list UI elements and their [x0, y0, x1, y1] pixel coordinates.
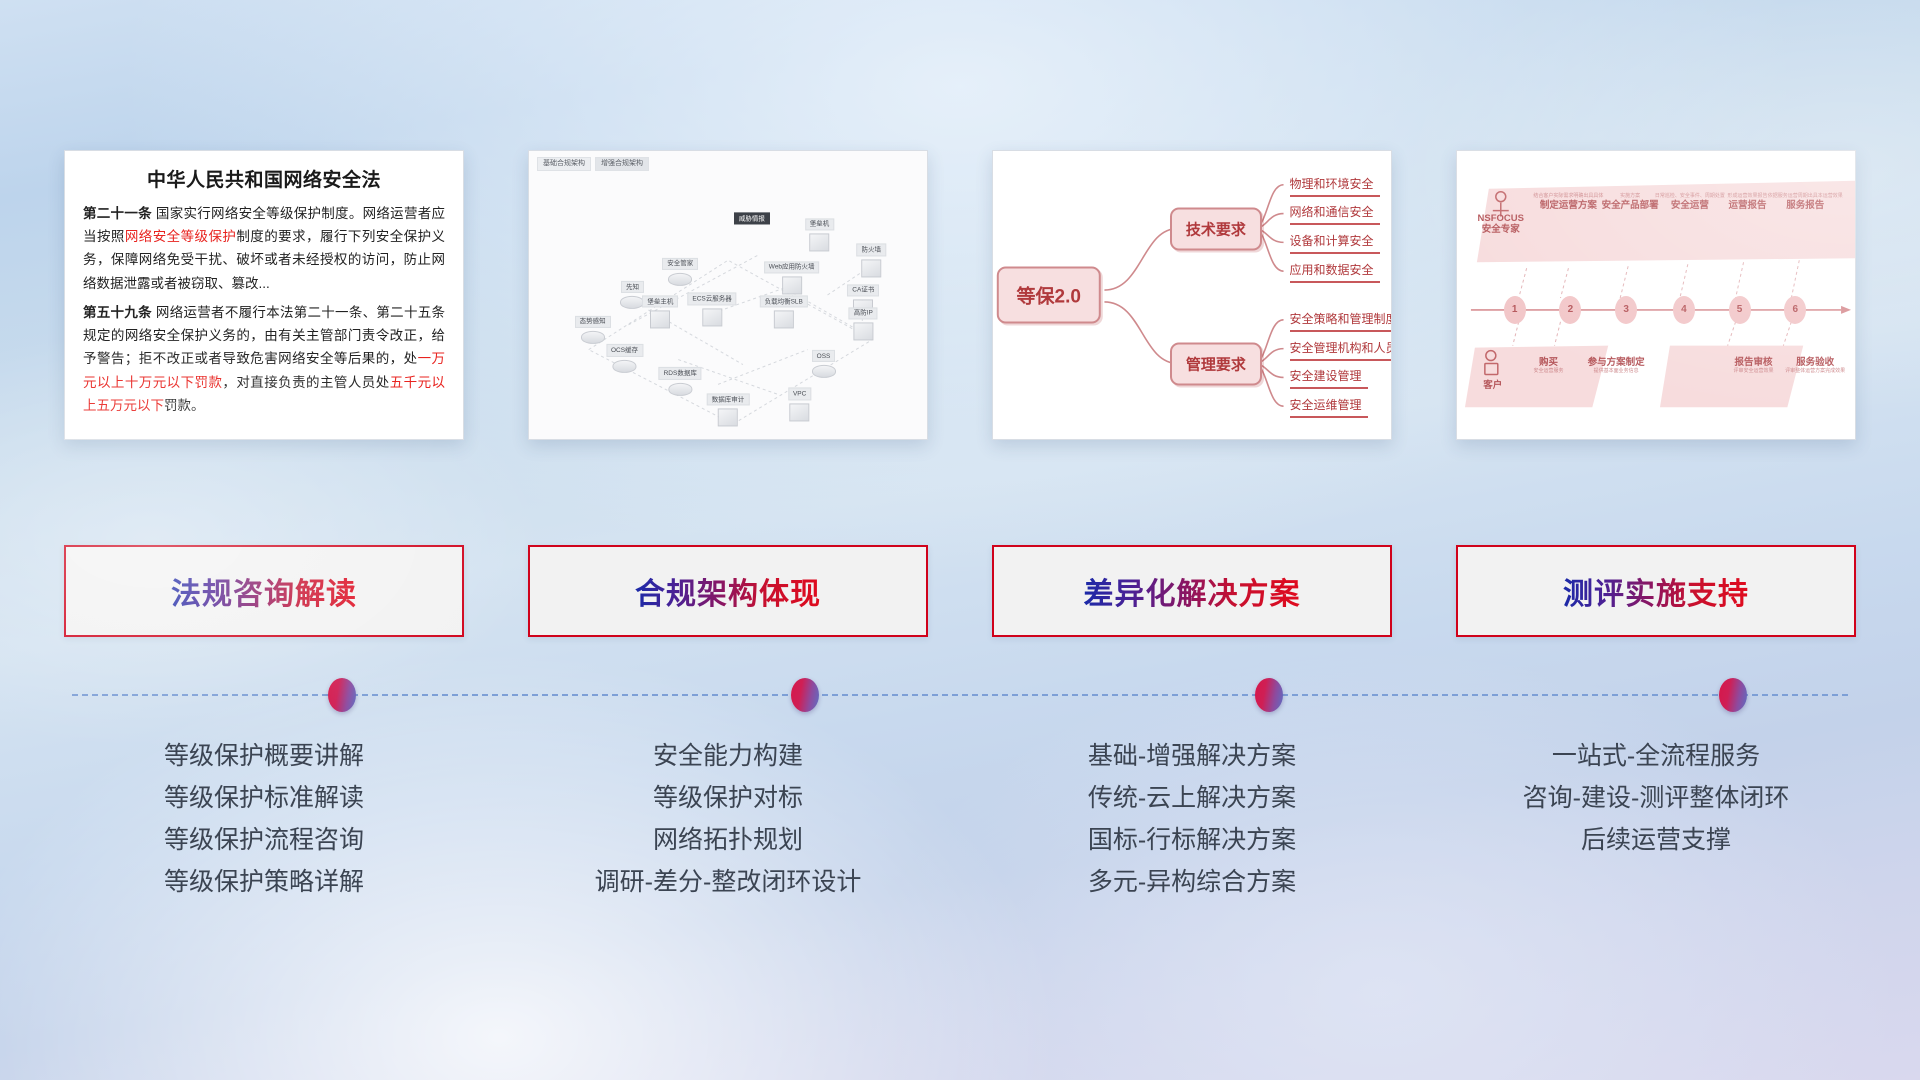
process-step-sub: 提供基本面业务信息: [1588, 369, 1645, 375]
heading-label-1: 法规咨询解读: [171, 569, 357, 613]
cylinder-icon: [620, 296, 644, 309]
actor-customer-name: 客户: [1483, 381, 1502, 392]
mindmap-diagram: 等保2.0 技术要求 管理要求 物理和环境安全网络和通信安全设备和计算安全应用和…: [993, 151, 1391, 439]
axis-dot-1[interactable]: [328, 678, 356, 712]
heading-box-regulation-consulting[interactable]: 法规咨询解读: [64, 545, 464, 637]
architecture-node-label: CA证书: [847, 284, 879, 296]
architecture-node-label: 数据库审计: [707, 394, 750, 406]
architecture-node-label: RDS数据库: [659, 367, 702, 379]
server-icon: [702, 308, 722, 326]
heading-box-assessment-support[interactable]: 测评实施支持: [1456, 545, 1856, 637]
law-title: 中华人民共和国网络安全法: [83, 165, 445, 192]
law-run-1-1: 网络安全等级保护: [125, 229, 237, 244]
server-icon: [853, 322, 873, 340]
process-step-sub: 结合客户实际需求明确出具具体: [1533, 194, 1603, 200]
cylinder-icon: [812, 365, 836, 378]
mindmap-leaf[interactable]: 安全管理机构和人员: [1290, 339, 1393, 359]
architecture-diagram: 基础合规架构 增强合规架构 先知态势感知安全管家威胁情报堡垒机防火墙Web应用防…: [529, 151, 927, 439]
detail-column-1: 等级保护概要讲解等级保护标准解读等级保护流程咨询等级保护策略详解: [64, 735, 464, 985]
architecture-node: VPC: [788, 388, 811, 421]
heading-box-compliance-architecture[interactable]: 合规架构体现: [528, 545, 928, 637]
architecture-node: OCS缓存: [606, 344, 643, 372]
detail-item: 基础-增强解决方案: [992, 735, 1392, 777]
architecture-node-label: VPC: [788, 388, 811, 400]
process-step-title: 服务报告: [1768, 201, 1843, 212]
heading-label-4: 测评实施支持: [1563, 569, 1749, 613]
mindmap-leaf[interactable]: 网络和通信安全: [1290, 203, 1374, 223]
process-step-sub: 形成运营效果报告: [1728, 194, 1768, 200]
architecture-node: 高防IP: [849, 307, 878, 340]
law-article-label-2: 第五十九条: [83, 305, 152, 320]
detail-item: 调研-差分-整改闭环设计: [528, 861, 928, 903]
process-step-bottom[interactable]: 服务验收评审整体运营方案完成效果: [1785, 358, 1845, 376]
process-step-top[interactable]: 形成运营效果报告运营报告: [1728, 194, 1768, 212]
architecture-node: 防火墙: [857, 244, 887, 277]
architecture-node-label: ECS云服务器: [687, 293, 736, 305]
architecture-node-label: 态势感知: [575, 315, 611, 327]
mindmap-root[interactable]: 等保2.0: [997, 267, 1101, 324]
process-step-sub: 实施方案: [1602, 194, 1659, 200]
axis-dot-4[interactable]: [1719, 678, 1747, 712]
mindmap-branch-management[interactable]: 管理要求: [1170, 343, 1262, 386]
actor-customer-label: 客户: [1483, 381, 1502, 392]
architecture-node: Web应用防火墙: [764, 261, 820, 294]
process-step-top[interactable]: 日常巡检、安全事件、周期处置安全运营: [1655, 194, 1725, 212]
tab-enhanced-architecture[interactable]: 增强合规架构: [595, 157, 649, 171]
law-paragraph-2: 第五十九条 网络运营者不履行本法第二十一条、第二十五条规定的网络安全保护义务的，…: [83, 301, 445, 417]
detail-item: 等级保护策略详解: [64, 861, 464, 903]
process-number-badge[interactable]: 3: [1615, 296, 1637, 324]
detail-item: 国标-行标解决方案: [992, 819, 1392, 861]
axis-dot-2[interactable]: [791, 678, 819, 712]
heading-row: 法规咨询解读 合规架构体现 差异化解决方案 测评实施支持: [0, 545, 1920, 655]
process-step-sub: 评审安全运营效果: [1733, 369, 1773, 375]
server-icon: [650, 311, 670, 329]
server-icon: [810, 233, 830, 251]
mindmap-branch-technical[interactable]: 技术要求: [1170, 207, 1262, 250]
server-icon: [774, 311, 794, 329]
architecture-node: RDS数据库: [659, 367, 702, 395]
server-icon: [790, 403, 810, 421]
process-number-badge[interactable]: 6: [1784, 296, 1806, 324]
detail-column-3: 基础-增强解决方案传统-云上解决方案国标-行标解决方案多元-异构综合方案: [992, 735, 1392, 985]
detail-item: 后续运营支撑: [1456, 819, 1856, 861]
process-diagram: NSFOCUS 安全专家 客户 结合客户实际需求明确出具具体制定运营方案实施方案…: [1457, 151, 1855, 439]
architecture-node: 数据库审计: [707, 394, 750, 427]
cylinder-icon: [668, 273, 692, 286]
mindmap-leaf[interactable]: 安全策略和管理制度: [1290, 310, 1393, 330]
process-step-bottom[interactable]: 参与方案制定提供基本面业务信息: [1588, 358, 1645, 376]
detail-item: 传统-云上解决方案: [992, 777, 1392, 819]
process-number-badge[interactable]: 5: [1729, 296, 1751, 324]
mindmap-leaf[interactable]: 安全运维管理: [1290, 396, 1362, 416]
architecture-tabs[interactable]: 基础合规架构 增强合规架构: [537, 157, 649, 171]
architecture-node-label: 威胁情报: [734, 213, 770, 225]
mindmap-leaf[interactable]: 设备和计算安全: [1290, 232, 1374, 252]
architecture-node: OSS: [812, 350, 836, 378]
process-step-title: 安全产品部署: [1602, 201, 1659, 212]
process-number-badge[interactable]: 4: [1673, 296, 1695, 324]
detail-item: 等级保护概要讲解: [64, 735, 464, 777]
detail-item: 网络拓扑规划: [528, 819, 928, 861]
architecture-node-label: 负载均衡SLB: [760, 296, 808, 308]
process-step-top[interactable]: 实施方案安全产品部署: [1602, 194, 1659, 212]
architecture-node: 堡垒主机: [642, 296, 678, 329]
customer-band-right: [1660, 346, 1803, 408]
architecture-node-label: 防火墙: [857, 244, 887, 256]
architecture-node: 先知: [620, 281, 644, 309]
process-step-title: 制定运营方案: [1533, 201, 1603, 212]
process-step-top[interactable]: 结合客户实际需求明确出具具体制定运营方案: [1533, 194, 1603, 212]
server-icon: [861, 259, 881, 277]
process-step-sub: 评审整体运营方案完成效果: [1785, 369, 1845, 375]
architecture-node: ECS云服务器: [687, 293, 736, 326]
detail-item: 等级保护对标: [528, 777, 928, 819]
architecture-node: 态势感知: [575, 315, 611, 343]
timeline-axis: [72, 694, 1848, 696]
architecture-node-label: 堡垒机: [805, 218, 835, 230]
cylinder-icon: [581, 331, 605, 344]
detail-item: 多元-异构综合方案: [992, 861, 1392, 903]
card-cybersecurity-law[interactable]: 中华人民共和国网络安全法 第二十一条 国家实行网络安全等级保护制度。网络运营者应…: [64, 150, 464, 440]
process-step-title: 运营报告: [1728, 201, 1768, 212]
heading-label-2: 合规架构体现: [635, 569, 821, 613]
process-step-sub: 日常巡检、安全事件、周期处置: [1655, 194, 1725, 200]
process-step-sub: 依据服务运营周期出具本运营效果: [1768, 194, 1843, 200]
axis-dot-3[interactable]: [1255, 678, 1283, 712]
architecture-node-label: 先知: [621, 281, 644, 293]
heading-label-3: 差异化解决方案: [1084, 569, 1301, 613]
cylinder-icon: [613, 359, 637, 372]
law-article-label-1: 第二十一条: [83, 206, 152, 221]
architecture-node: 威胁情报: [734, 213, 770, 228]
heading-box-differentiated-solution[interactable]: 差异化解决方案: [992, 545, 1392, 637]
actor-expert-label: NSFOCUS 安全专家: [1478, 214, 1524, 236]
mindmap-leaf[interactable]: 应用和数据安全: [1290, 261, 1374, 281]
process-step-bottom[interactable]: 购买安全运营服务: [1534, 358, 1564, 376]
tab-basic-architecture[interactable]: 基础合规架构: [537, 157, 591, 171]
law-run-2-2: ，对直接负责的主管人员处: [222, 375, 389, 390]
architecture-node-label: 高防IP: [849, 307, 878, 319]
actor-expert-name-line2: 安全专家: [1478, 225, 1524, 236]
process-step-top[interactable]: 依据服务运营周期出具本运营效果服务报告: [1768, 194, 1843, 212]
law-paragraph-1: 第二十一条 国家实行网络安全等级保护制度。网络运营者应当按照网络安全等级保护制度…: [83, 202, 445, 295]
detail-item: 等级保护标准解读: [64, 777, 464, 819]
detail-column-4: 一站式-全流程服务咨询-建设-测评整体闭环后续运营支撑: [1456, 735, 1856, 985]
card-service-process[interactable]: NSFOCUS 安全专家 客户 结合客户实际需求明确出具具体制定运营方案实施方案…: [1456, 150, 1856, 440]
card-compliance-architecture[interactable]: 基础合规架构 增强合规架构 先知态势感知安全管家威胁情报堡垒机防火墙Web应用防…: [528, 150, 928, 440]
process-number-badge[interactable]: 2: [1559, 296, 1581, 324]
detail-item: 一站式-全流程服务: [1456, 735, 1856, 777]
server-icon: [718, 409, 738, 427]
mindmap-leaf[interactable]: 物理和环境安全: [1290, 175, 1374, 195]
architecture-node-label: OSS: [812, 350, 836, 362]
architecture-node-label: 堡垒主机: [642, 296, 678, 308]
process-step-sub: 安全运营服务: [1534, 369, 1564, 375]
card-djcp-mindmap[interactable]: 等保2.0 技术要求 管理要求 物理和环境安全网络和通信安全设备和计算安全应用和…: [992, 150, 1392, 440]
law-run-2-4: 罚款。: [164, 398, 205, 413]
card-row: 中华人民共和国网络安全法 第二十一条 国家实行网络安全等级保护制度。网络运营者应…: [0, 150, 1920, 450]
law-document: 中华人民共和国网络安全法 第二十一条 国家实行网络安全等级保护制度。网络运营者应…: [65, 151, 463, 439]
mindmap-leaf[interactable]: 安全建设管理: [1290, 367, 1362, 387]
process-step-bottom[interactable]: 报告审核评审安全运营效果: [1733, 358, 1773, 376]
detail-item: 安全能力构建: [528, 735, 928, 777]
process-number-badge[interactable]: 1: [1504, 296, 1526, 324]
architecture-node-label: 安全管家: [662, 258, 698, 270]
cylinder-icon: [668, 382, 692, 395]
architecture-node-label: OCS缓存: [606, 344, 643, 356]
slide-canvas: 中华人民共和国网络安全法 第二十一条 国家实行网络安全等级保护制度。网络运营者应…: [0, 0, 1920, 1080]
architecture-node-label: Web应用防火墙: [764, 261, 820, 273]
architecture-node: 负载均衡SLB: [760, 296, 808, 329]
detail-columns: 等级保护概要讲解等级保护标准解读等级保护流程咨询等级保护策略详解 安全能力构建等…: [0, 735, 1920, 985]
architecture-node: 安全管家: [662, 258, 698, 286]
server-icon: [782, 276, 802, 294]
process-step-title: 安全运营: [1655, 201, 1725, 212]
detail-item: 咨询-建设-测评整体闭环: [1456, 777, 1856, 819]
detail-item: 等级保护流程咨询: [64, 819, 464, 861]
architecture-node: 堡垒机: [805, 218, 835, 251]
detail-column-2: 安全能力构建等级保护对标网络拓扑规划调研-差分-整改闭环设计: [528, 735, 928, 985]
